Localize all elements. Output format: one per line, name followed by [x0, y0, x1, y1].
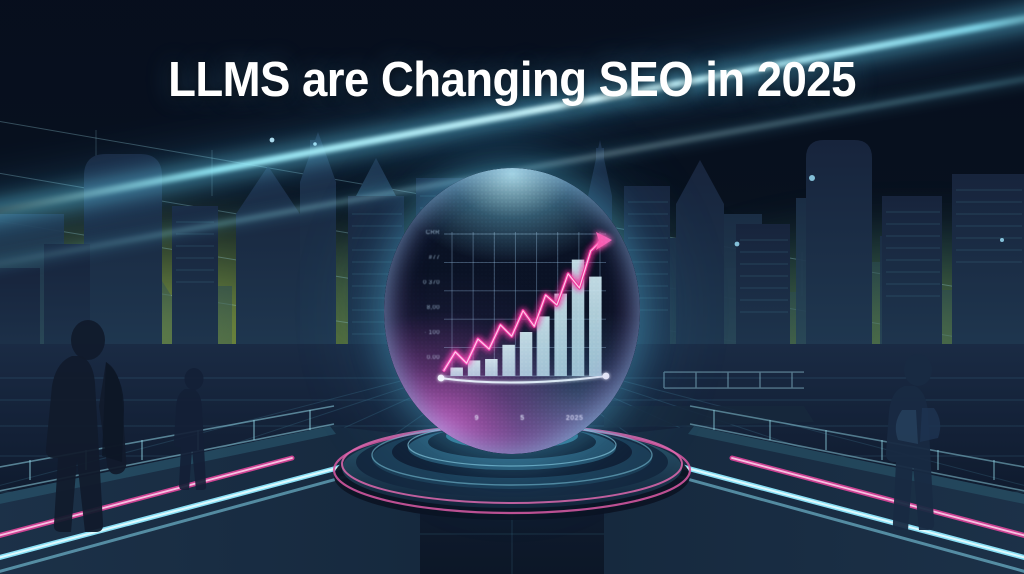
silhouette-person-right	[872, 348, 968, 536]
orb-noise-texture	[384, 168, 640, 454]
crystal-ball: CRR #77 0 370 8,00 · 100 0.00	[384, 168, 640, 454]
crystal-ball-body: CRR #77 0 370 8,00 · 100 0.00	[384, 168, 640, 454]
page-title: LLMS are Changing SEO in 2025	[36, 56, 988, 105]
silhouette-person-small-left	[168, 362, 222, 492]
hero-illustration: CRR #77 0 370 8,00 · 100 0.00	[0, 0, 1024, 574]
silhouette-person-large-left	[32, 310, 152, 550]
